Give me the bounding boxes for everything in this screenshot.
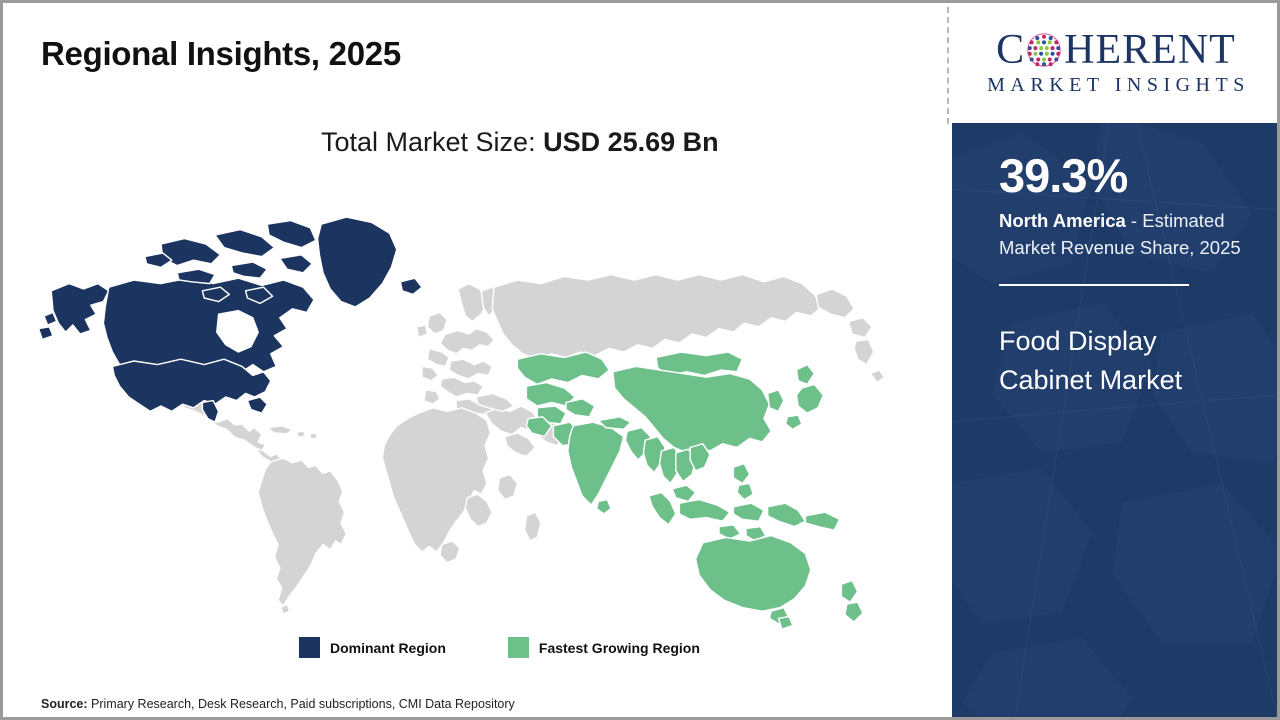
legend-swatch-navy: [299, 637, 320, 658]
globe-dots-icon: [1025, 31, 1063, 69]
panel-divider-rule: [999, 284, 1189, 286]
legend-item-fastest-growing: Fastest Growing Region: [508, 637, 700, 658]
stat-percentage: 39.3%: [999, 151, 1248, 200]
stat-description: North America - Estimated Market Revenue…: [999, 208, 1248, 262]
market-size-label: Total Market Size:: [321, 127, 543, 157]
brand-logo: C: [952, 3, 1280, 123]
map-legend: Dominant Region Fastest Growing Region: [299, 637, 700, 658]
world-map-svg: [21, 181, 931, 631]
infographic-frame: Regional Insights, 2025 Total Market Siz…: [0, 0, 1280, 720]
logo-tagline: MARKET INSIGHTS: [966, 74, 1266, 97]
legend-swatch-green: [508, 637, 529, 658]
region-north-america: [39, 217, 422, 422]
total-market-size: Total Market Size: USD 25.69 Bn: [321, 127, 719, 158]
world-map: [21, 181, 931, 631]
legend-label-fastest-growing: Fastest Growing Region: [539, 640, 700, 656]
legend-label-dominant: Dominant Region: [330, 640, 446, 656]
stat-panel: 39.3% North America - Estimated Market R…: [952, 123, 1280, 717]
logo-letter-c: C: [996, 29, 1025, 71]
source-label: Source:: [41, 697, 88, 711]
right-panel: C: [952, 3, 1280, 717]
logo-wordmark: HERENT: [1064, 29, 1236, 71]
legend-item-dominant: Dominant Region: [299, 637, 446, 658]
page-title: Regional Insights, 2025: [41, 35, 401, 73]
stat-region-name: North America: [999, 210, 1126, 231]
source-note: Source: Primary Research, Desk Research,…: [41, 697, 515, 711]
market-name: Food Display Cabinet Market: [999, 322, 1248, 400]
vertical-dashed-divider: [947, 7, 949, 124]
region-asia-pacific: [517, 352, 863, 629]
left-content-pane: Regional Insights, 2025 Total Market Siz…: [3, 3, 948, 717]
source-value: Primary Research, Desk Research, Paid su…: [88, 697, 515, 711]
market-size-value: USD 25.69 Bn: [543, 127, 719, 157]
